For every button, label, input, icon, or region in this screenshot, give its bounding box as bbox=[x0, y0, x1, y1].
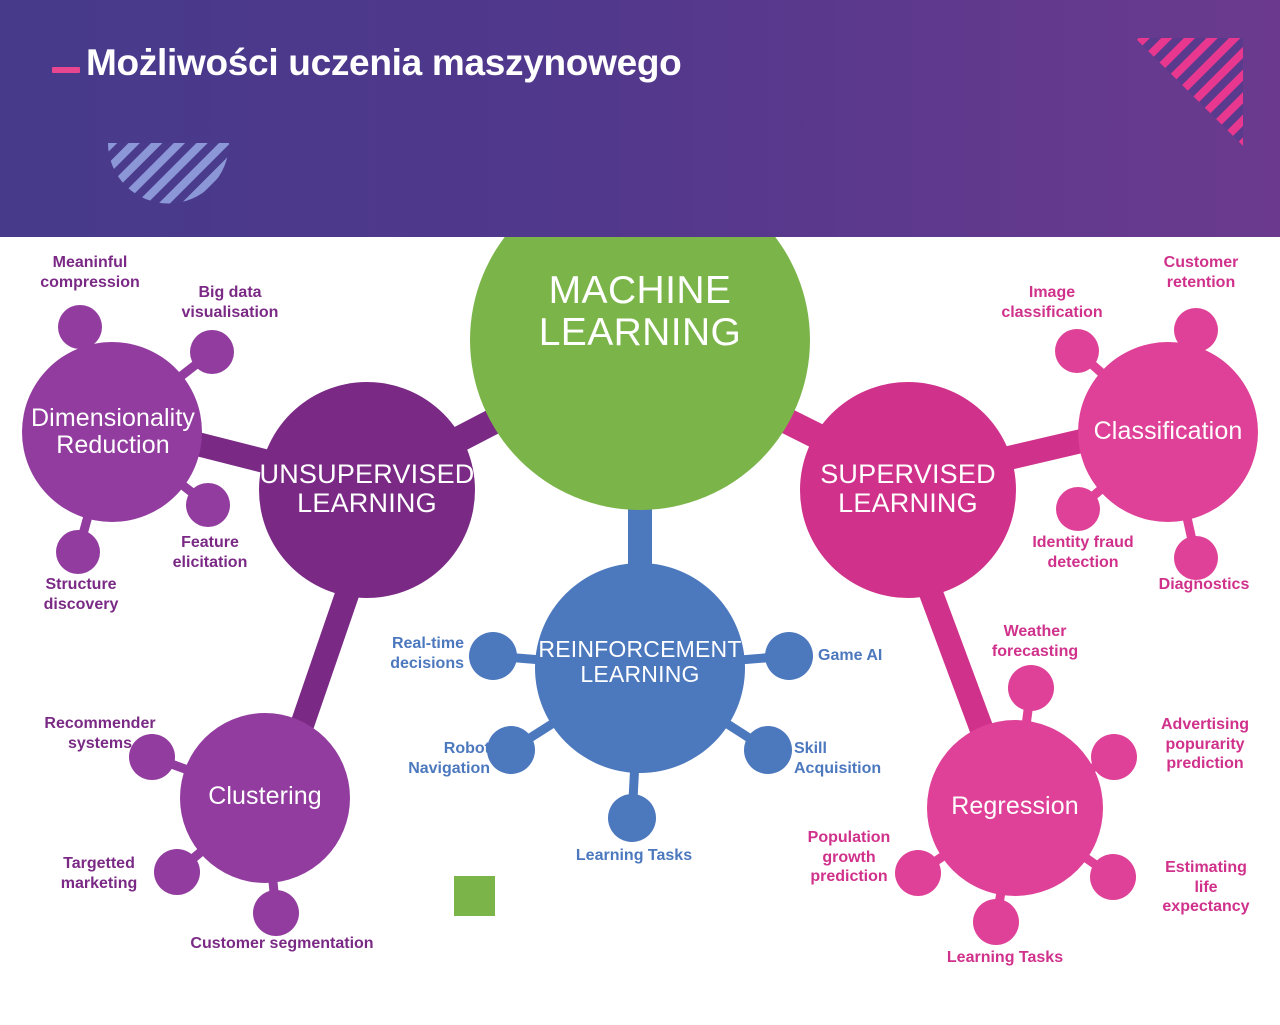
leaf-dot-rl-learning-tasks[interactable] bbox=[608, 794, 656, 842]
leaf-label-game-ai: Game AI bbox=[818, 646, 948, 666]
leaf-dot-meaninful-compression[interactable] bbox=[58, 305, 102, 349]
leaf-dot-advertising-popurarity-prediction[interactable] bbox=[1091, 734, 1137, 780]
leaf-label-meaninful-compression: Meaninful compression bbox=[10, 253, 170, 292]
leaf-label-estimating-life-expectancy: Estimating life expectancy bbox=[1140, 858, 1272, 917]
leaf-label-recommender-systems: Recommender systems bbox=[22, 714, 178, 753]
leaf-dot-image-classification[interactable] bbox=[1055, 329, 1099, 373]
leaf-label-real-time-decisions: Real-time decisions bbox=[336, 634, 464, 673]
leaf-dot-big-data-visualisation[interactable] bbox=[190, 330, 234, 374]
leaf-dot-diagnostics[interactable] bbox=[1174, 536, 1218, 580]
page-header: Możliwości uczenia maszynowego bbox=[0, 0, 1280, 237]
leaf-label-skill-acquisition: Skill Acquisition bbox=[794, 739, 924, 778]
leaf-label-customer-segmentation: Customer segmentation bbox=[164, 934, 400, 954]
leaf-label-identity-fraud-detection: Identity fraud detection bbox=[1000, 533, 1166, 572]
leaf-dot-estimating-life-expectancy[interactable] bbox=[1090, 854, 1136, 900]
leaf-label-targetted-marketing: Targetted marketing bbox=[30, 854, 168, 893]
header-decorations bbox=[0, 0, 1280, 237]
leaf-label-customer-retention: Customer retention bbox=[1128, 253, 1274, 292]
leaf-dot-weather-forecasting[interactable] bbox=[1008, 665, 1054, 711]
leaf-label-weather-forecasting: Weather forecasting bbox=[962, 622, 1108, 661]
infographic-canvas: Możliwości uczenia maszynowego MACHINE L… bbox=[0, 0, 1280, 1025]
leaf-dot-customer-segmentation[interactable] bbox=[253, 890, 299, 936]
leaf-dot-structure-discovery[interactable] bbox=[56, 530, 100, 574]
leaf-label-advertising-popurarity-prediction: Advertising popurarity prediction bbox=[1136, 715, 1274, 774]
node-dimensionality-reduction[interactable] bbox=[22, 342, 202, 522]
page-title: Możliwości uczenia maszynowego bbox=[52, 44, 681, 83]
striped-semicircle-icon bbox=[108, 143, 229, 203]
node-clustering[interactable] bbox=[180, 713, 350, 883]
node-unsupervised-learning[interactable] bbox=[259, 382, 475, 598]
green-square-decor-icon bbox=[454, 876, 495, 916]
leaf-label-regression-learning-tasks: Learning Tasks bbox=[930, 948, 1080, 968]
striped-triangle-icon bbox=[1135, 38, 1243, 146]
node-regression[interactable] bbox=[927, 720, 1103, 896]
leaf-dot-identity-fraud-detection[interactable] bbox=[1056, 487, 1100, 531]
leaf-label-rl-learning-tasks: Learning Tasks bbox=[560, 846, 708, 866]
leaf-dot-robot-navigation[interactable] bbox=[487, 726, 535, 774]
leaf-label-diagnostics: Diagnostics bbox=[1140, 575, 1268, 595]
leaf-dot-skill-acquisition[interactable] bbox=[744, 726, 792, 774]
page-title-text: Możliwości uczenia maszynowego bbox=[86, 44, 681, 83]
leaf-label-population-growth-prediction: Population growth prediction bbox=[790, 828, 908, 887]
node-supervised-learning[interactable] bbox=[800, 382, 1016, 598]
leaf-dot-real-time-decisions[interactable] bbox=[469, 632, 517, 680]
title-accent-dash-icon bbox=[52, 67, 80, 73]
node-classification[interactable] bbox=[1078, 342, 1258, 522]
leaf-dot-feature-elicitation[interactable] bbox=[186, 483, 230, 527]
leaf-label-feature-elicitation: Feature elicitation bbox=[144, 533, 276, 572]
leaf-dot-game-ai[interactable] bbox=[765, 632, 813, 680]
leaf-label-robot-navigation: Robot Navigation bbox=[362, 739, 490, 778]
leaf-label-structure-discovery: Structure discovery bbox=[8, 575, 154, 614]
leaf-label-image-classification: Image classification bbox=[972, 283, 1132, 322]
leaf-label-big-data-visualisation: Big data visualisation bbox=[150, 283, 310, 322]
leaf-dot-regression-learning-tasks[interactable] bbox=[973, 899, 1019, 945]
node-reinforcement-learning[interactable] bbox=[535, 563, 745, 773]
